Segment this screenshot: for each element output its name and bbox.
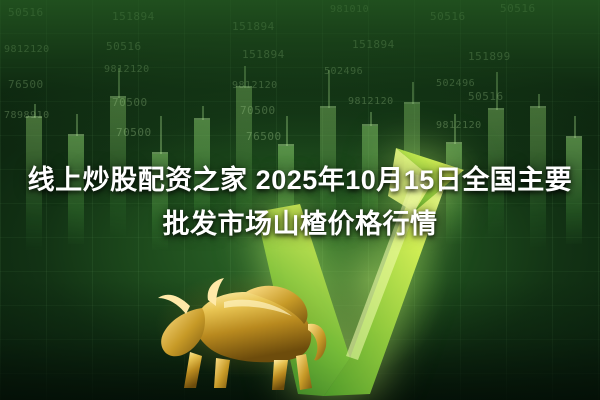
news-cover-image: 5051615189415189498101050516505169812120… bbox=[0, 0, 600, 400]
headline-text: 线上炒股配资之家 2025年10月15日全国主要 批发市场山楂价格行情 bbox=[0, 158, 600, 246]
golden-bull-statue-icon bbox=[150, 262, 350, 392]
headline-line-1: 线上炒股配资之家 2025年10月15日全国主要 bbox=[18, 158, 582, 202]
headline-line-2: 批发市场山楂价格行情 bbox=[18, 202, 582, 246]
